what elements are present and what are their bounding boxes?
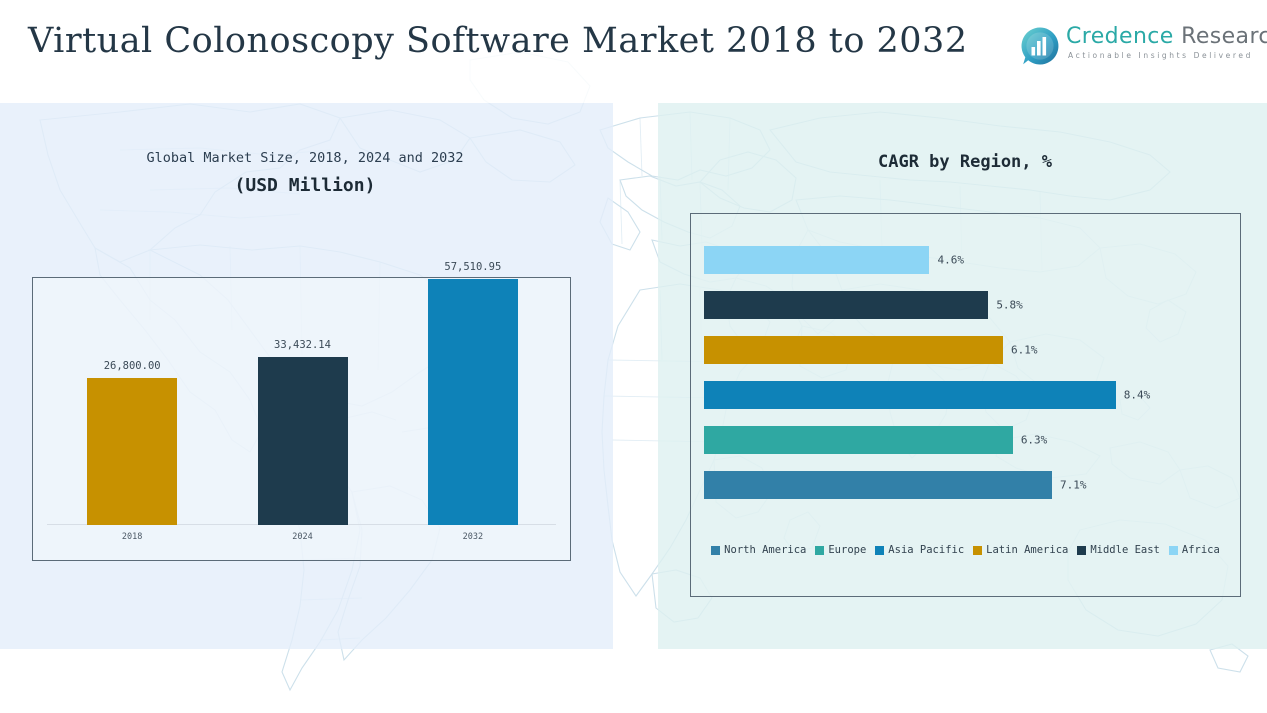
bar-category-label: 2032	[463, 532, 483, 542]
legend-item[interactable]: Middle East	[1077, 544, 1160, 556]
bar-value-label: 6.1%	[1011, 344, 1038, 357]
legend-label: Africa	[1182, 544, 1220, 556]
value-bar	[258, 357, 348, 525]
bar-row: 5.8%	[704, 291, 1234, 319]
logo-tagline: Actionable Insights Delivered	[1068, 51, 1253, 60]
legend-swatch	[973, 546, 982, 555]
legend-label: Latin America	[986, 544, 1068, 556]
logo-word-credence: Credence	[1066, 24, 1174, 49]
right-chart-title: CAGR by Region, %	[690, 152, 1240, 172]
left-chart-plot-area: 26,800.00201833,432.14202457,510.952032	[33, 278, 570, 560]
bar-value-label: 8.4%	[1124, 389, 1151, 402]
legend-item[interactable]: Europe	[815, 544, 866, 556]
bar-chart-bubble-icon	[1020, 26, 1060, 66]
legend-label: Middle East	[1090, 544, 1160, 556]
left-chart-subtitle: (USD Million)	[20, 175, 590, 196]
bar-category-label: 2018	[122, 532, 142, 542]
legend-swatch	[711, 546, 720, 555]
bar-column: 33,432.142024	[258, 357, 348, 525]
value-bar	[704, 471, 1052, 499]
left-chart-title: Global Market Size, 2018, 2024 and 2032 …	[20, 150, 590, 196]
legend-item[interactable]: Latin America	[973, 544, 1068, 556]
legend-swatch	[1077, 546, 1086, 555]
legend-swatch	[1169, 546, 1178, 555]
legend-label: Europe	[828, 544, 866, 556]
bar-category-label: 2024	[292, 532, 312, 542]
bar-value-label: 33,432.14	[274, 339, 331, 351]
cagr-by-region-chart: 4.6%5.8%6.1%8.4%6.3%7.1% North AmericaEu…	[690, 213, 1241, 597]
value-bar	[704, 381, 1116, 409]
legend-item[interactable]: North America	[711, 544, 806, 556]
bar-row: 6.1%	[704, 336, 1234, 364]
bar-value-label: 57,510.95	[444, 261, 501, 273]
infographic-canvas: Virtual Colonoscopy Software Market 2018…	[0, 0, 1267, 713]
bar-row: 4.6%	[704, 246, 1234, 274]
left-chart-title-line1: Global Market Size, 2018, 2024 and 2032	[20, 150, 590, 166]
global-market-size-chart: 26,800.00201833,432.14202457,510.952032	[32, 277, 571, 561]
legend-item[interactable]: Asia Pacific	[875, 544, 964, 556]
right-chart-plot-area: 4.6%5.8%6.1%8.4%6.3%7.1%	[691, 214, 1240, 596]
value-bar	[704, 426, 1013, 454]
bar-column: 57,510.952032	[428, 279, 518, 525]
cagr-chart-legend: North AmericaEuropeAsia PacificLatin Ame…	[691, 544, 1240, 556]
bar-value-label: 5.8%	[996, 299, 1023, 312]
logo-wordmark: Credence Research	[1066, 24, 1267, 49]
value-bar	[704, 291, 988, 319]
legend-item[interactable]: Africa	[1169, 544, 1220, 556]
legend-swatch	[815, 546, 824, 555]
value-bar	[704, 246, 929, 274]
bar-row: 8.4%	[704, 381, 1234, 409]
bar-row: 6.3%	[704, 426, 1234, 454]
logo-word-research: Research	[1174, 24, 1267, 49]
bar-value-label: 7.1%	[1060, 479, 1087, 492]
bar-row: 7.1%	[704, 471, 1234, 499]
legend-label: Asia Pacific	[888, 544, 964, 556]
bar-value-label: 6.3%	[1021, 434, 1048, 447]
brand-logo[interactable]: Credence Research Actionable Insights De…	[1020, 24, 1245, 72]
bar-value-label: 4.6%	[937, 254, 964, 267]
value-bar	[87, 378, 177, 525]
legend-label: North America	[724, 544, 806, 556]
value-bar	[428, 279, 518, 525]
header-bar: Virtual Colonoscopy Software Market 2018…	[0, 0, 1267, 103]
legend-swatch	[875, 546, 884, 555]
page-title: Virtual Colonoscopy Software Market 2018…	[28, 18, 978, 64]
bar-column: 26,800.002018	[87, 378, 177, 525]
value-bar	[704, 336, 1003, 364]
bar-value-label: 26,800.00	[104, 360, 161, 372]
